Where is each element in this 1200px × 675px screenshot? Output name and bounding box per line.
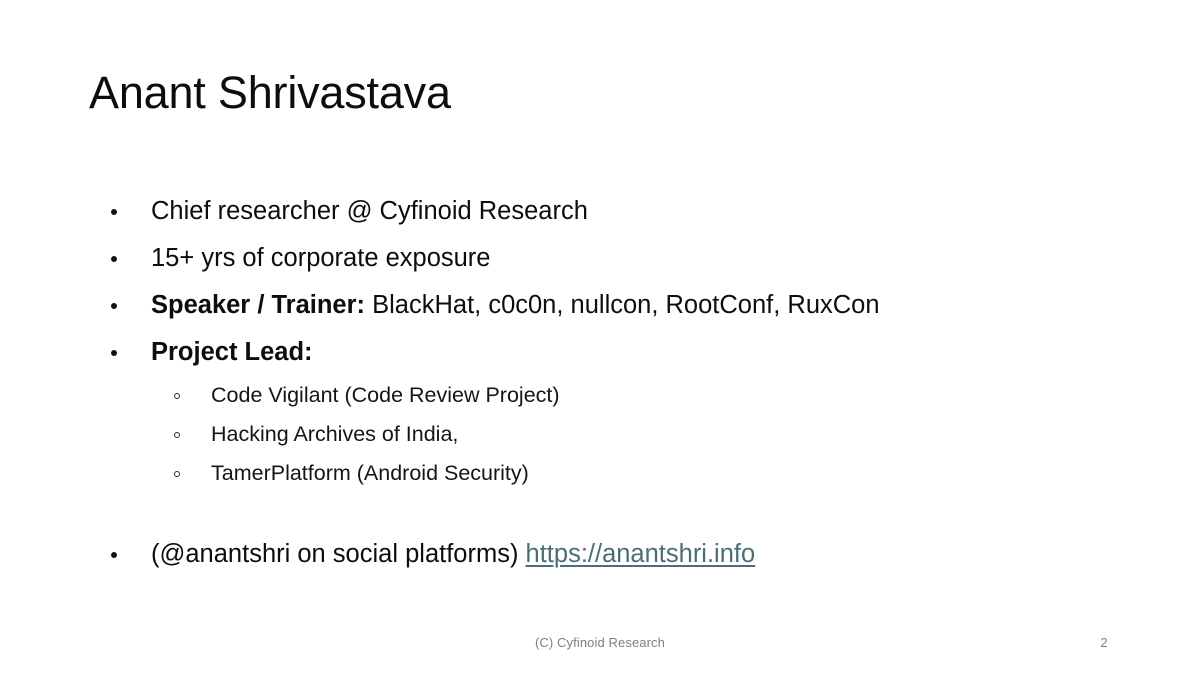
bullet-list: Chief researcher @ Cyfinoid Research 15+… (0, 188, 1200, 578)
list-item: TamerPlatform (Android Security) (0, 454, 1200, 493)
bullet-dot-icon (111, 209, 117, 215)
bullet-circle-icon (174, 432, 180, 438)
bullet-circle-icon (174, 471, 180, 477)
list-item-lead: Speaker / Trainer: (151, 291, 365, 319)
list-item: Code Vigilant (Code Review Project) (0, 376, 1200, 415)
list-item-lead: Project Lead: (151, 338, 313, 366)
list-item: (@anantshri on social platforms) https:/… (0, 531, 1200, 578)
list-spacer (0, 493, 1200, 531)
bullet-circle-icon (174, 393, 180, 399)
list-item-label: (@anantshri on social platforms) (151, 540, 526, 568)
list-item-label: Hacking Archives of India, (211, 422, 458, 446)
bullet-dot-icon (111, 552, 117, 558)
list-item-label: Chief researcher @ Cyfinoid Research (151, 197, 588, 225)
list-item: Hacking Archives of India, (0, 415, 1200, 454)
bullet-dot-icon (111, 256, 117, 262)
list-item-label: BlackHat, c0c0n, nullcon, RootConf, RuxC… (365, 291, 880, 319)
bullet-dot-icon (111, 350, 117, 356)
list-item-label: 15+ yrs of corporate exposure (151, 244, 490, 272)
list-item: Project Lead: (0, 329, 1200, 376)
list-item-label: TamerPlatform (Android Security) (211, 461, 529, 485)
footer-credit: (C) Cyfinoid Research (0, 635, 1200, 650)
website-link[interactable]: https://anantshri.info (526, 540, 756, 568)
bullet-dot-icon (111, 303, 117, 309)
list-item-label: Code Vigilant (Code Review Project) (211, 383, 560, 407)
page-number: 2 (1074, 635, 1134, 650)
slide-canvas: Anant Shrivastava Chief researcher @ Cyf… (0, 0, 1200, 675)
list-item: 15+ yrs of corporate exposure (0, 235, 1200, 282)
list-item: Speaker / Trainer: BlackHat, c0c0n, null… (0, 282, 1200, 329)
page-title: Anant Shrivastava (89, 68, 451, 118)
list-item: Chief researcher @ Cyfinoid Research (0, 188, 1200, 235)
